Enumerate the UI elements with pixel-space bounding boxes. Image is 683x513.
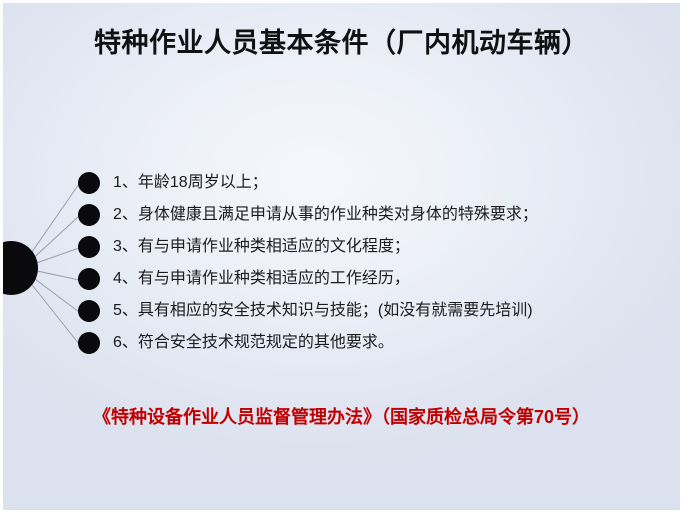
- bullet-dot-icon: [78, 236, 100, 258]
- list-item: 6、符合安全技术规范规定的其他要求。: [78, 327, 394, 359]
- bullet-dot-icon: [78, 300, 100, 322]
- list-item: 2、身体健康且满足申请从事的作业种类对身体的特殊要求；: [78, 199, 538, 231]
- list-item: 5、具有相应的安全技术知识与技能；(如没有就需要先培训): [78, 295, 533, 327]
- list-item: 3、有与申请作业种类相适应的文化程度；: [78, 231, 410, 263]
- list-item-label: 6、符合安全技术规范规定的其他要求。: [113, 335, 394, 351]
- list-item-label: 4、有与申请作业种类相适应的工作经历，: [113, 271, 410, 287]
- source-reference: 《特种设备作业人员监督管理办法》（国家质检总局令第70号）: [3, 403, 680, 429]
- bullet-dot-icon: [78, 268, 100, 290]
- slide-canvas: 特种作业人员基本条件（厂内机动车辆） 1、年龄18周岁以上； 2、身体健康: [0, 0, 683, 513]
- bullet-dot-icon: [78, 332, 100, 354]
- list-item-label: 3、有与申请作业种类相适应的文化程度；: [113, 239, 410, 255]
- slide-background: 特种作业人员基本条件（厂内机动车辆） 1、年龄18周岁以上； 2、身体健康: [3, 3, 680, 510]
- list-item-label: 5、具有相应的安全技术知识与技能；(如没有就需要先培训): [113, 303, 533, 319]
- list-item: 4、有与申请作业种类相适应的工作经历，: [78, 263, 410, 295]
- bullet-list: 1、年龄18周岁以上； 2、身体健康且满足申请从事的作业种类对身体的特殊要求； …: [3, 3, 680, 510]
- bullet-dot-icon: [78, 204, 100, 226]
- list-item-label: 1、年龄18周岁以上；: [113, 175, 268, 191]
- bullet-dot-icon: [78, 172, 100, 194]
- list-item-label: 2、身体健康且满足申请从事的作业种类对身体的特殊要求；: [113, 207, 538, 223]
- list-item: 1、年龄18周岁以上；: [78, 167, 268, 199]
